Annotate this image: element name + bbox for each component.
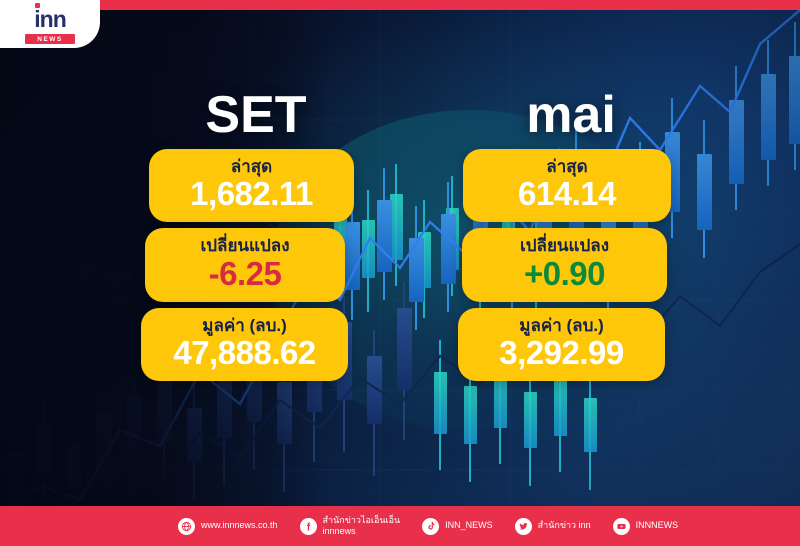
index-block-mai: mai ล่าสุด 614.14 เปลี่ยนแปลง +0.90 มูลค… [456,88,686,387]
logo-word-text: inn [34,6,66,32]
card-mai-value: มูลค่า (ลบ.) 3,292.99 [458,308,665,382]
footer-item-label: www.innnews.co.th [201,520,278,531]
card-label: มูลค่า (ลบ.) [149,316,340,336]
infographic-canvas: inn NEWS SET ล่าสุด 1,682.11 เปลี่ยนแปลง… [0,0,800,546]
card-mai-latest: ล่าสุด 614.14 [463,149,671,223]
card-value: 47,888.62 [149,335,340,372]
globe-icon [178,518,195,535]
card-set-value: มูลค่า (ลบ.) 47,888.62 [141,308,348,382]
footer-item-label: สำนักข่าวไอเอ็นเอ็น innnews [323,515,401,538]
tiktok-icon [422,518,439,535]
card-label: เปลี่ยนแปลง [470,236,659,256]
footer-item-label: INN_NEWS [445,520,493,531]
footer-item-website[interactable]: www.innnews.co.th [178,518,278,535]
twitter-icon [515,518,532,535]
footer-item-label: INNNEWS [636,520,679,531]
card-label: ล่าสุด [157,157,346,177]
inn-logo: inn NEWS [0,0,100,48]
youtube-icon [613,518,630,535]
logo-wordmark: inn [34,8,66,31]
index-name-set: SET [141,88,371,143]
card-label: มูลค่า (ลบ.) [466,316,657,336]
footer-item-facebook[interactable]: สำนักข่าวไอเอ็นเอ็น innnews [300,515,401,538]
footer-item-label: สำนักข่าว inn [538,520,591,531]
card-mai-change: เปลี่ยนแปลง +0.90 [462,228,667,302]
logo-news-badge: NEWS [25,34,75,45]
card-value: 3,292.99 [466,335,657,372]
logo-dot-icon [35,3,40,8]
footer-item-tiktok[interactable]: INN_NEWS [422,518,493,535]
card-value: +0.90 [470,256,659,293]
card-label: ล่าสุด [471,157,663,177]
top-accent-bar [0,0,800,10]
card-set-latest: ล่าสุด 1,682.11 [149,149,354,223]
footer-social-bar: www.innnews.co.th สำนักข่าวไอเอ็นเอ็น in… [0,506,800,546]
facebook-icon [300,518,317,535]
card-value: 1,682.11 [157,176,346,213]
card-value: 614.14 [471,176,663,213]
card-label: เปลี่ยนแปลง [153,236,337,256]
index-block-set: SET ล่าสุด 1,682.11 เปลี่ยนแปลง -6.25 มู… [141,88,371,387]
index-name-mai: mai [456,88,686,143]
card-value: -6.25 [153,256,337,293]
footer-item-youtube[interactable]: INNNEWS [613,518,679,535]
card-set-change: เปลี่ยนแปลง -6.25 [145,228,345,302]
footer-item-twitter[interactable]: สำนักข่าว inn [515,518,591,535]
